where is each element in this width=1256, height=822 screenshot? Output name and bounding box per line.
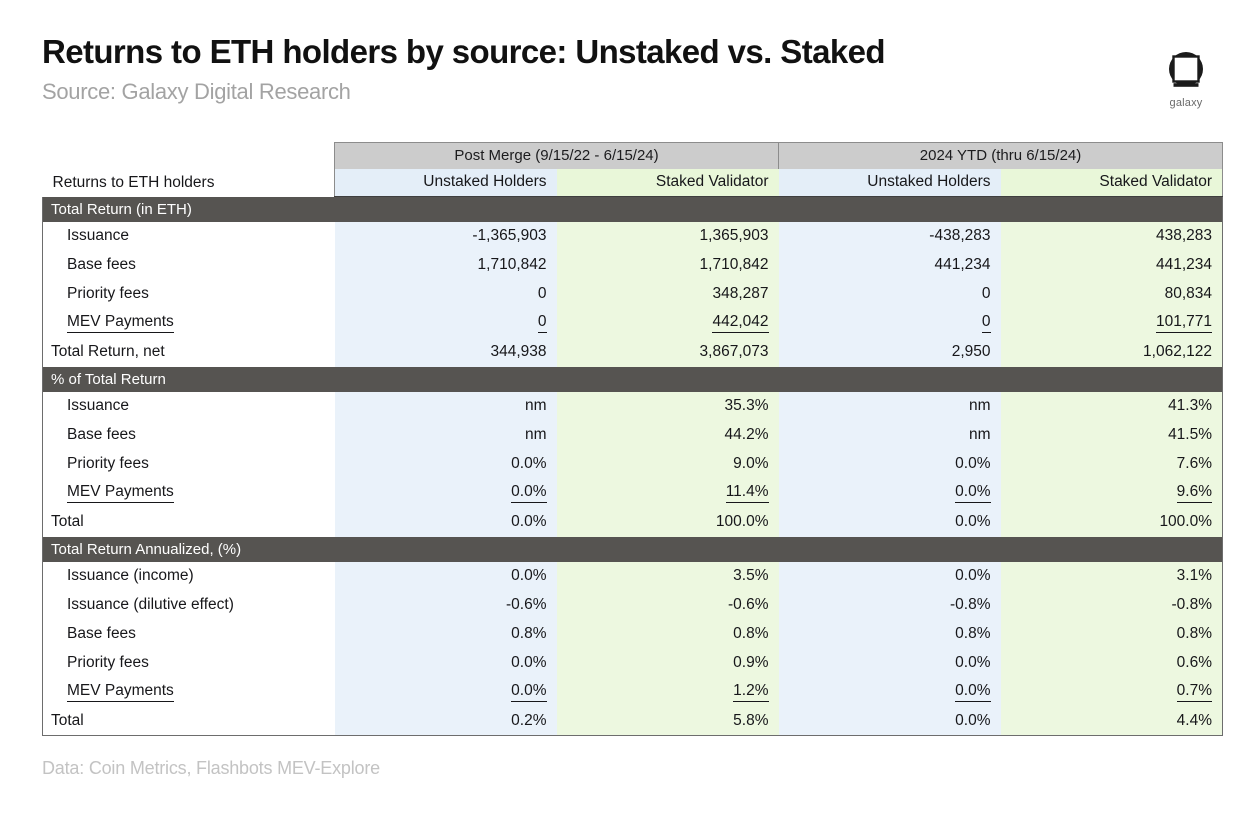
- period-header-spacer: [43, 143, 335, 169]
- table-row: MEV Payments0442,0420101,771: [43, 309, 1223, 338]
- cell-value: 11.4%: [557, 479, 779, 508]
- total-cell-value: 0.0%: [779, 707, 1001, 736]
- table-row: Base fees1,710,8421,710,842441,234441,23…: [43, 251, 1223, 280]
- cell-value: 0: [779, 309, 1001, 338]
- brand-logo-word: galaxy: [1150, 97, 1222, 109]
- cell-value: nm: [335, 421, 557, 450]
- column-header-2: Staked Validator: [557, 169, 779, 197]
- cell-value: 80,834: [1001, 280, 1223, 309]
- cell-value: 0: [335, 309, 557, 338]
- total-cell-value: 4.4%: [1001, 707, 1223, 736]
- cell-value: 1,710,842: [335, 251, 557, 280]
- cell-value: 0.0%: [779, 562, 1001, 591]
- cell-value: 9.0%: [557, 450, 779, 479]
- period-header-row: Post Merge (9/15/22 - 6/15/24)2024 YTD (…: [43, 143, 1223, 169]
- returns-table-wrapper: Post Merge (9/15/22 - 6/15/24)2024 YTD (…: [42, 142, 1222, 736]
- cell-value: 0: [779, 280, 1001, 309]
- column-header-row: Returns to ETH holdersUnstaked HoldersSt…: [43, 169, 1223, 197]
- cell-value: 441,234: [1001, 251, 1223, 280]
- table-row: MEV Payments0.0%1.2%0.0%0.7%: [43, 678, 1223, 707]
- total-cell-value: 2,950: [779, 338, 1001, 367]
- cell-value: nm: [335, 392, 557, 421]
- table-row: Issuance-1,365,9031,365,903-438,283438,2…: [43, 222, 1223, 251]
- row-label: Issuance: [43, 392, 335, 421]
- cell-value: -0.8%: [1001, 591, 1223, 620]
- table-total-row: Total0.0%100.0%0.0%100.0%: [43, 508, 1223, 537]
- cell-value: 0.8%: [335, 620, 557, 649]
- section-title: Total Return (in ETH): [43, 197, 1223, 222]
- table-row: MEV Payments0.0%11.4%0.0%9.6%: [43, 479, 1223, 508]
- table-row: Priority fees0348,287080,834: [43, 280, 1223, 309]
- column-header-1: Unstaked Holders: [335, 169, 557, 197]
- cell-value: 0: [335, 280, 557, 309]
- row-label: MEV Payments: [43, 479, 335, 508]
- table-row: Issuancenm35.3%nm41.3%: [43, 392, 1223, 421]
- cell-value: 0.0%: [779, 450, 1001, 479]
- cell-value: 41.3%: [1001, 392, 1223, 421]
- cell-value: 0.0%: [335, 479, 557, 508]
- row-label: Priority fees: [43, 649, 335, 678]
- cell-value: 3.5%: [557, 562, 779, 591]
- table-total-row: Total0.2%5.8%0.0%4.4%: [43, 707, 1223, 736]
- cell-value: -0.6%: [557, 591, 779, 620]
- table-row: Priority fees0.0%0.9%0.0%0.6%: [43, 649, 1223, 678]
- cell-value: 0.0%: [779, 479, 1001, 508]
- cell-value: 44.2%: [557, 421, 779, 450]
- table-row: Base feesnm44.2%nm41.5%: [43, 421, 1223, 450]
- cell-value: 0.7%: [1001, 678, 1223, 707]
- total-row-label: Total: [43, 508, 335, 537]
- cell-value: 0.6%: [1001, 649, 1223, 678]
- cell-value: 1.2%: [557, 678, 779, 707]
- table-row: Issuance (dilutive effect)-0.6%-0.6%-0.8…: [43, 591, 1223, 620]
- page-title: Returns to ETH holders by source: Unstak…: [42, 32, 1222, 72]
- cell-value: 0.0%: [335, 649, 557, 678]
- table-row: Priority fees0.0%9.0%0.0%7.6%: [43, 450, 1223, 479]
- cell-value: 1,710,842: [557, 251, 779, 280]
- cell-value: 35.3%: [557, 392, 779, 421]
- cell-value: nm: [779, 392, 1001, 421]
- section-header-row: Total Return (in ETH): [43, 197, 1223, 222]
- cell-value: 9.6%: [1001, 479, 1223, 508]
- cell-value: 0.0%: [335, 450, 557, 479]
- data-source-note: Data: Coin Metrics, Flashbots MEV-Explor…: [42, 758, 380, 779]
- row-label: Issuance: [43, 222, 335, 251]
- cell-value: 0.0%: [779, 649, 1001, 678]
- total-cell-value: 3,867,073: [557, 338, 779, 367]
- cell-value: 41.5%: [1001, 421, 1223, 450]
- column-header-3: Unstaked Holders: [779, 169, 1001, 197]
- total-cell-value: 100.0%: [1001, 508, 1223, 537]
- galaxy-logo-icon: [1163, 48, 1209, 94]
- cell-value: 0.8%: [557, 620, 779, 649]
- total-cell-value: 344,938: [335, 338, 557, 367]
- row-label: Base fees: [43, 620, 335, 649]
- section-title: Total Return Annualized, (%): [43, 537, 1223, 562]
- cell-value: -438,283: [779, 222, 1001, 251]
- returns-table: Post Merge (9/15/22 - 6/15/24)2024 YTD (…: [42, 142, 1223, 736]
- total-cell-value: 5.8%: [557, 707, 779, 736]
- cell-value: nm: [779, 421, 1001, 450]
- total-cell-value: 0.0%: [335, 508, 557, 537]
- cell-value: -1,365,903: [335, 222, 557, 251]
- total-row-label: Total Return, net: [43, 338, 335, 367]
- total-cell-value: 0.0%: [779, 508, 1001, 537]
- row-label: Base fees: [43, 251, 335, 280]
- cell-value: 441,234: [779, 251, 1001, 280]
- table-row: Issuance (income)0.0%3.5%0.0%3.1%: [43, 562, 1223, 591]
- row-label: Priority fees: [43, 450, 335, 479]
- page-header: Returns to ETH holders by source: Unstak…: [42, 32, 1222, 105]
- section-header-row: % of Total Return: [43, 367, 1223, 392]
- cell-value: 0.8%: [779, 620, 1001, 649]
- cell-value: 3.1%: [1001, 562, 1223, 591]
- section-title: % of Total Return: [43, 367, 1223, 392]
- row-label: MEV Payments: [43, 678, 335, 707]
- row-label-header: Returns to ETH holders: [43, 169, 335, 197]
- cell-value: 0.0%: [779, 678, 1001, 707]
- total-row-label: Total: [43, 707, 335, 736]
- page-subtitle: Source: Galaxy Digital Research: [42, 78, 1222, 105]
- cell-value: 1,365,903: [557, 222, 779, 251]
- cell-value: 0.0%: [335, 678, 557, 707]
- total-cell-value: 0.2%: [335, 707, 557, 736]
- row-label: MEV Payments: [43, 309, 335, 338]
- returns-table-body: Post Merge (9/15/22 - 6/15/24)2024 YTD (…: [43, 143, 1223, 736]
- total-cell-value: 100.0%: [557, 508, 779, 537]
- cell-value: -0.8%: [779, 591, 1001, 620]
- cell-value: -0.6%: [335, 591, 557, 620]
- row-label: Issuance (income): [43, 562, 335, 591]
- cell-value: 101,771: [1001, 309, 1223, 338]
- table-total-row: Total Return, net344,9383,867,0732,9501,…: [43, 338, 1223, 367]
- cell-value: 0.0%: [335, 562, 557, 591]
- column-header-4: Staked Validator: [1001, 169, 1223, 197]
- cell-value: 348,287: [557, 280, 779, 309]
- table-row: Base fees0.8%0.8%0.8%0.8%: [43, 620, 1223, 649]
- cell-value: 0.9%: [557, 649, 779, 678]
- period-header-2: 2024 YTD (thru 6/15/24): [779, 143, 1223, 169]
- cell-value: 7.6%: [1001, 450, 1223, 479]
- total-cell-value: 1,062,122: [1001, 338, 1223, 367]
- cell-value: 0.8%: [1001, 620, 1223, 649]
- row-label: Base fees: [43, 421, 335, 450]
- cell-value: 438,283: [1001, 222, 1223, 251]
- cell-value: 442,042: [557, 309, 779, 338]
- period-header-1: Post Merge (9/15/22 - 6/15/24): [335, 143, 779, 169]
- chart-page: Returns to ETH holders by source: Unstak…: [0, 0, 1256, 822]
- section-header-row: Total Return Annualized, (%): [43, 537, 1223, 562]
- brand-logo: galaxy: [1150, 48, 1222, 109]
- row-label: Issuance (dilutive effect): [43, 591, 335, 620]
- row-label: Priority fees: [43, 280, 335, 309]
